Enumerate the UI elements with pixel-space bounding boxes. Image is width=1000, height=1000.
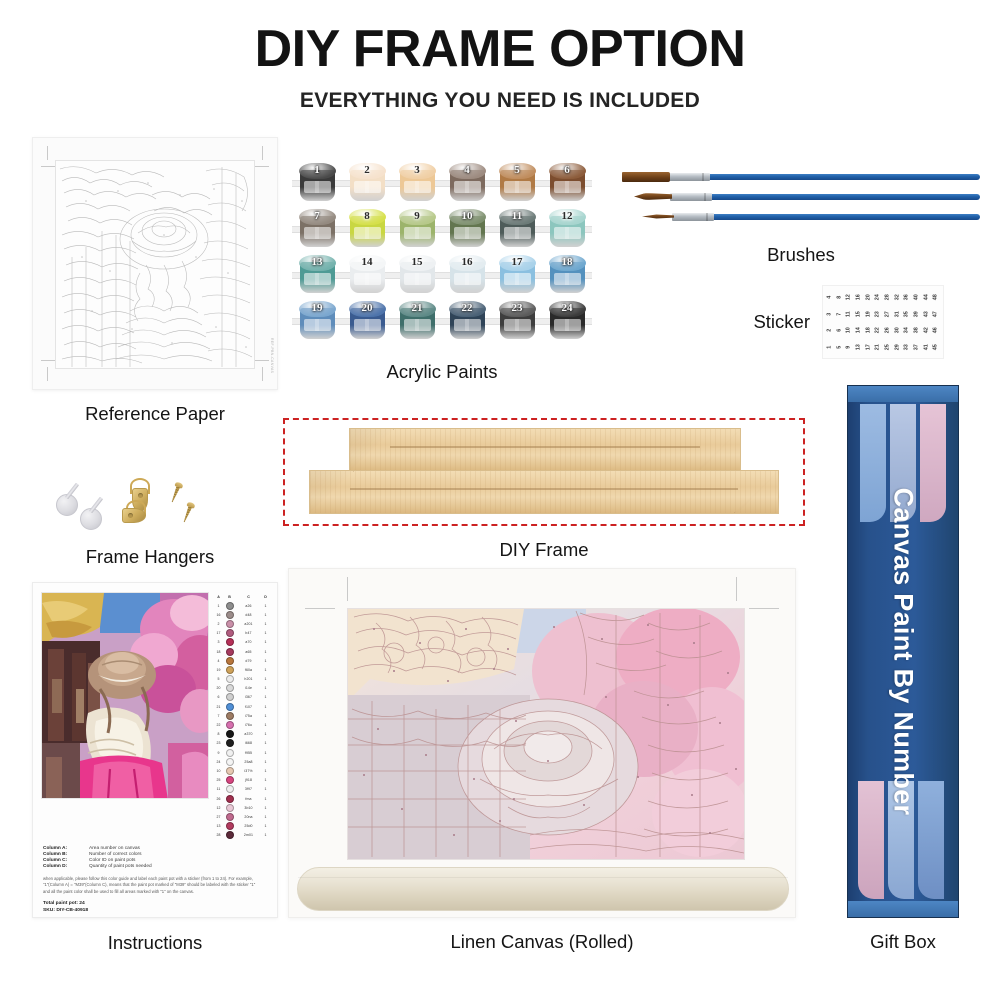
crop-mark-icon [47,146,48,160]
paint-pot-18: 18 [549,255,586,295]
paint-pot-16: 16 [449,255,486,295]
legend-quantity: 1 [262,769,269,773]
legend-row: 22i76u1 [214,720,269,729]
legend-quantity: 1 [262,668,269,672]
legend-area-number: 1 [214,604,223,608]
paint-pot-cell: 22 [442,301,492,347]
paint-pot-cell: 2 [342,163,392,209]
paint-pot-cell: 20 [342,301,392,347]
legend-color-swatch [226,693,234,701]
legend-row: 8a3701 [214,730,269,739]
paint-pot-cell: 16 [442,255,492,301]
reference-paper-item: REF-PBN-CANVAS Reference Paper [32,137,278,425]
paint-pot-number: 2 [349,164,386,176]
paint-pot-number: 17 [499,256,536,268]
legend-area-number: 13 [214,824,223,828]
legend-row: 19f60a1 [214,665,269,674]
crop-mark-icon [736,577,737,601]
instructions-footer-line: SKU: DIY-CB-40918 [43,908,269,913]
legend-row: 17b471 [214,629,269,638]
legend-row: 123b101 [214,803,269,812]
miter-corner [350,429,394,471]
paint-pot-cell: 24 [542,301,592,347]
legend-row: 7i75a1 [214,711,269,720]
stretcher-bar-top [349,428,741,472]
page-header: DIY FRAME OPTION EVERYTHING YOU NEED IS … [0,0,1000,113]
legend-color-id: i75a [236,714,261,718]
legend-area-number: 5 [214,677,223,681]
legend-color-swatch [226,620,234,628]
d-ring-plate [122,508,146,523]
legend-row: 1325d01 [214,822,269,831]
legend-color-id: 3b10 [236,806,261,810]
legend-color-swatch [226,657,234,665]
legend-quantity: 1 [262,677,269,681]
sticker-number: 45 [928,342,945,352]
brush-handle [696,194,980,200]
paint-pot-number: 12 [549,210,586,222]
paint-pot-cell: 17 [492,255,542,301]
acrylic-paints-item: 123456789101112131415161718192021222324 … [292,163,592,383]
brush-handle [702,214,980,220]
paint-pot-24: 24 [549,301,586,341]
sticker-number: 46 [928,325,945,335]
instructions-caption: Instructions [32,932,278,954]
legend-quantity: 1 [262,631,269,635]
paint-pot-number: 13 [299,256,336,268]
legend-row: 10i37%1 [214,766,269,775]
instructions-item: A B C D 1a26116d4812a201117b4713a70118a6… [32,582,278,954]
legend-color-swatch [226,749,234,757]
legend-quantity: 1 [262,797,269,801]
column-legend-line: Column C:Color ID on paint pots [43,858,269,863]
paint-pot-number: 18 [549,256,586,268]
legend-color-id: f107 [236,705,261,709]
brushes-caption: Brushes [622,244,980,266]
reference-paper-sheet: REF-PBN-CANVAS [32,137,278,390]
legend-color-swatch [226,813,234,821]
legend-color-id: 3f97 [236,787,261,791]
legend-color-swatch [226,602,234,610]
legend-color-id: fma [236,797,261,801]
legend-quantity: 1 [262,622,269,626]
paint-pot-6: 6 [549,163,586,203]
legend-header-row: A B C D [214,593,269,601]
brush-handle [688,174,980,180]
legend-color-id: i37% [236,769,261,773]
column-legend-line: Column B:Number of correct colors [43,852,269,857]
paint-pot-cell: 4 [442,163,492,209]
legend-quantity: 1 [262,806,269,810]
paint-pot-9: 9 [399,209,436,249]
wood-groove [390,446,700,448]
diy-frame-item: DIY Frame [283,418,805,561]
legend-color-id: 25a8 [236,760,261,764]
brush-ferrule [672,213,714,221]
legend-area-number: 4 [214,659,223,663]
crop-mark-icon [41,360,55,361]
screw-shaft [182,506,192,523]
legend-area-number: 23 [214,741,223,745]
legend-area-number: 10 [214,769,223,773]
column-legend-value: Color ID on paint pots [89,858,135,863]
legend-color-swatch [226,739,234,747]
reference-paper-caption: Reference Paper [32,403,278,425]
linen-canvas-item: Linen Canvas (Rolled) [288,568,796,953]
miter-corner [734,471,778,513]
legend-color-swatch [226,795,234,803]
legend-area-number: 6 [214,695,223,699]
paint-pot-20: 20 [349,301,386,341]
instructions-note: when applicable, please follow this colo… [41,876,259,896]
sticker-number: 47 [928,309,945,319]
legend-color-id: i668 [236,741,261,745]
legend-color-swatch [226,675,234,683]
instructions-color-preview [41,592,209,799]
crop-mark-icon [47,367,48,381]
legend-area-number: 24 [214,760,223,764]
legend-quantity: 1 [262,751,269,755]
legend-row: 2a2011 [214,619,269,628]
legend-row: 2720na1 [214,812,269,821]
legend-area-number: 2 [214,622,223,626]
brush-flat [622,170,980,184]
legend-header-d: D [262,595,269,599]
paint-pot-number: 22 [449,302,486,314]
legend-color-id: i367 [236,695,261,699]
legend-color-id: j918 [236,778,261,782]
paint-pot-number: 16 [449,256,486,268]
column-legend-line: Column A:Area number on canvas [43,846,269,851]
legend-color-swatch [226,822,234,830]
paint-pot-number: 24 [549,302,586,314]
screw-icon [180,501,195,523]
paint-pot-number: 20 [349,302,386,314]
legend-quantity: 1 [262,824,269,828]
legend-header-b: B [224,595,235,599]
paint-pot-10: 10 [449,209,486,249]
legend-color-swatch [226,666,234,674]
legend-color-id: a70 [236,640,261,644]
gift-box-caption: Gift Box [833,931,973,953]
legend-row: 1a261 [214,601,269,610]
paint-pot-4: 4 [449,163,486,203]
paint-pot-cell: 8 [342,209,392,255]
instructions-sheet: A B C D 1a26116d4812a201117b4713a70118a6… [32,582,278,918]
paint-pot-cell: 6 [542,163,592,209]
legend-quantity: 1 [262,787,269,791]
crop-mark-icon [749,608,779,609]
crop-mark-icon [41,166,55,167]
crop-mark-icon [255,360,269,361]
legend-color-id: 2m01 [236,833,261,837]
legend-row: 21f1071 [214,702,269,711]
paint-pot-grid: 123456789101112131415161718192021222324 [292,163,592,347]
legend-quantity: 1 [262,686,269,690]
legend-area-number: 28 [214,833,223,837]
frame-hangers-art [50,470,250,536]
frame-hangers-caption: Frame Hangers [50,546,250,568]
paint-pot-number: 21 [399,302,436,314]
legend-row: 20i14e1 [214,684,269,693]
legend-area-number: 3 [214,640,223,644]
gift-box-label: Canvas Paint By Number [888,488,919,816]
legend-color-swatch [226,703,234,711]
paint-pot-cell: 7 [292,209,342,255]
legend-area-number: 19 [214,668,223,672]
legend-quantity: 1 [262,659,269,663]
legend-area-number: 8 [214,732,223,736]
page-subtitle: EVERYTHING YOU NEED IS INCLUDED [0,89,1000,113]
paint-pot-2: 2 [349,163,386,203]
legend-quantity: 1 [262,613,269,617]
brushes-item: Brushes [622,170,980,266]
brush-bristles [642,214,674,219]
paint-pot-number: 5 [499,164,536,176]
legend-row: 5h2011 [214,675,269,684]
legend-row: 18a651 [214,647,269,656]
brush-ferrule [668,173,710,181]
paint-pot-number: 1 [299,164,336,176]
legend-area-number: 20 [214,686,223,690]
paint-pot-number: 10 [449,210,486,222]
sticker-number-sheet: 4812162024283236404448371115192327313539… [822,285,944,359]
legend-area-number: 11 [214,787,223,791]
wood-groove [350,488,738,490]
paint-pot-cell: 21 [392,301,442,347]
legend-color-id: a65 [236,650,261,654]
legend-row: 25j9181 [214,776,269,785]
legend-color-swatch [226,767,234,775]
linen-canvas-caption: Linen Canvas (Rolled) [288,931,796,953]
legend-area-number: 25 [214,778,223,782]
column-legend-value: Area number on canvas [89,846,140,851]
legend-row: 2425a81 [214,757,269,766]
brush-bristles [622,172,670,182]
legend-color-swatch [226,758,234,766]
sticker-item: Sticker 48121620242832364044483711151923… [672,285,980,359]
paint-pot-cell: 1 [292,163,342,209]
legend-color-swatch [226,648,234,656]
legend-color-swatch [226,721,234,729]
legend-color-id: d79 [236,659,261,663]
legend-quantity: 1 [262,723,269,727]
legend-area-number: 18 [214,650,223,654]
paint-pot-number: 9 [399,210,436,222]
column-legend-value: Quantity of paint pots needed [89,864,152,869]
legend-color-swatch [226,831,234,839]
legend-row: 16d481 [214,610,269,619]
crop-mark-icon [255,166,269,167]
paint-pot-8: 8 [349,209,386,249]
legend-quantity: 1 [262,714,269,718]
stretcher-bar-bottom [309,470,779,514]
crop-mark-icon [347,577,348,601]
legend-color-swatch [226,712,234,720]
paint-pot-number: 23 [499,302,536,314]
legend-color-swatch [226,776,234,784]
paint-pot-cell: 11 [492,209,542,255]
column-legend-key: Column A: [43,846,83,851]
sticker-number: 48 [928,292,945,302]
canvas-roll [297,867,789,911]
paint-pot-12: 12 [549,209,586,249]
paint-pot-number: 14 [349,256,386,268]
screw-icon [168,481,183,503]
crop-mark-icon [262,146,263,160]
legend-quantity: 1 [262,833,269,837]
legend-area-number: 9 [214,751,223,755]
legend-color-id: 25d0 [236,824,261,828]
paint-pot-22: 22 [449,301,486,341]
paint-pot-14: 14 [349,255,386,295]
paint-pot-1: 1 [299,163,336,203]
column-legend-key: Column B: [43,852,83,857]
paint-pot-cell: 5 [492,163,542,209]
paint-pot-23: 23 [499,301,536,341]
legend-quantity: 1 [262,778,269,782]
legend-row: 282m011 [214,831,269,840]
legend-quantity: 1 [262,705,269,709]
legend-color-swatch [226,785,234,793]
paint-pot-cell: 9 [392,209,442,255]
paint-pot-11: 11 [499,209,536,249]
diy-frame-caption: DIY Frame [283,539,805,561]
paint-pot-cell: 15 [392,255,442,301]
legend-color-swatch [226,611,234,619]
legend-rows-container: 1a26116d4812a201117b4713a70118a6514d7911… [214,601,269,840]
legend-quantity: 1 [262,604,269,608]
legend-color-id: a201 [236,622,261,626]
paint-pot-cell: 19 [292,301,342,347]
brush-round [622,190,980,204]
brush-bristles [634,193,672,200]
legend-color-id: b47 [236,631,261,635]
legend-quantity: 1 [262,732,269,736]
legend-color-id: 20na [236,815,261,819]
paint-pot-cell: 18 [542,255,592,301]
legend-color-id: d48 [236,613,261,617]
legend-color-id: i14e [236,686,261,690]
legend-row: 113f971 [214,785,269,794]
gift-box-title-wrap: Canvas Paint By Number [848,386,958,917]
reference-line-art [55,160,255,369]
legend-color-swatch [226,804,234,812]
miter-corner [696,429,740,471]
legend-color-swatch [226,730,234,738]
paint-pot-number: 19 [299,302,336,314]
paint-pot-cell: 12 [542,209,592,255]
paint-pot-cell: 10 [442,209,492,255]
legend-area-number: 21 [214,705,223,709]
canvas-printed-artwork [347,608,745,860]
page-title: DIY FRAME OPTION [0,22,1000,77]
instructions-color-legend: A B C D 1a26116d4812a201117b4713a70118a6… [214,592,269,840]
legend-color-id: a370 [236,732,261,736]
column-legend-key: Column C: [43,858,83,863]
legend-color-swatch [226,684,234,692]
legend-row: 3a701 [214,638,269,647]
paint-pot-cell: 23 [492,301,542,347]
instructions-footer-line: Total paint pot: 24 [43,901,269,906]
diy-frame-highlight-box [283,418,805,526]
legend-color-id: h201 [236,677,261,681]
sticker-caption: Sticker [672,311,822,333]
linen-canvas-sheet [288,568,796,918]
paint-pot-5: 5 [499,163,536,203]
instructions-column-legend: Column A:Area number on canvasColumn B:N… [41,846,269,871]
paint-pot-21: 21 [399,301,436,341]
legend-color-id: a26 [236,604,261,608]
legend-color-swatch [226,638,234,646]
legend-quantity: 1 [262,741,269,745]
screw-shaft [170,486,180,503]
paint-pot-15: 15 [399,255,436,295]
legend-quantity: 1 [262,760,269,764]
paint-pot-number: 7 [299,210,336,222]
paint-pot-3: 3 [399,163,436,203]
legend-color-id: f955 [236,751,261,755]
paint-pot-19: 19 [299,301,336,341]
miter-corner [310,471,354,513]
legend-header-c: C [236,595,261,599]
legend-row: 4d791 [214,656,269,665]
frame-hangers-item: Frame Hangers [50,470,250,568]
instructions-top-section: A B C D 1a26116d4812a201117b4713a70118a6… [41,592,269,840]
crop-mark-icon [305,608,335,609]
paint-pot-number: 8 [349,210,386,222]
crop-mark-icon [262,367,263,381]
legend-quantity: 1 [262,650,269,654]
paint-pot-number: 3 [399,164,436,176]
legend-area-number: 7 [214,714,223,718]
paint-pot-7: 7 [299,209,336,249]
legend-area-number: 27 [214,815,223,819]
paint-pot-cell: 14 [342,255,392,301]
gift-box-package: Canvas Paint By Number [847,385,959,918]
legend-row: 26fma1 [214,794,269,803]
paint-pot-cell: 3 [392,163,442,209]
column-legend-value: Number of correct colors [89,852,142,857]
paint-pot-number: 4 [449,164,486,176]
brush-detail [622,210,980,224]
legend-area-number: 22 [214,723,223,727]
legend-header-a: A [214,595,223,599]
instructions-footer: Total paint pot: 24SKU: DIY-CB-40918 [41,901,269,914]
legend-area-number: 17 [214,631,223,635]
paint-pot-number: 6 [549,164,586,176]
legend-row: 23i6681 [214,739,269,748]
legend-color-swatch [226,629,234,637]
paint-pot-number: 15 [399,256,436,268]
legend-quantity: 1 [262,695,269,699]
brush-ferrule [670,193,712,201]
column-legend-key: Column D: [43,864,83,869]
legend-row: 6i3671 [214,693,269,702]
legend-quantity: 1 [262,640,269,644]
acrylic-paints-caption: Acrylic Paints [292,361,592,383]
paint-pot-number: 11 [499,210,536,222]
legend-area-number: 26 [214,797,223,801]
paint-pot-17: 17 [499,255,536,295]
gift-box-item: Canvas Paint By Number Gift Box [833,385,973,953]
legend-quantity: 1 [262,815,269,819]
column-legend-line: Column D:Quantity of paint pots needed [43,864,269,869]
legend-area-number: 12 [214,806,223,810]
legend-color-id: f60a [236,668,261,672]
legend-row: 9f9551 [214,748,269,757]
reference-side-code: REF-PBN-CANVAS [270,338,274,373]
